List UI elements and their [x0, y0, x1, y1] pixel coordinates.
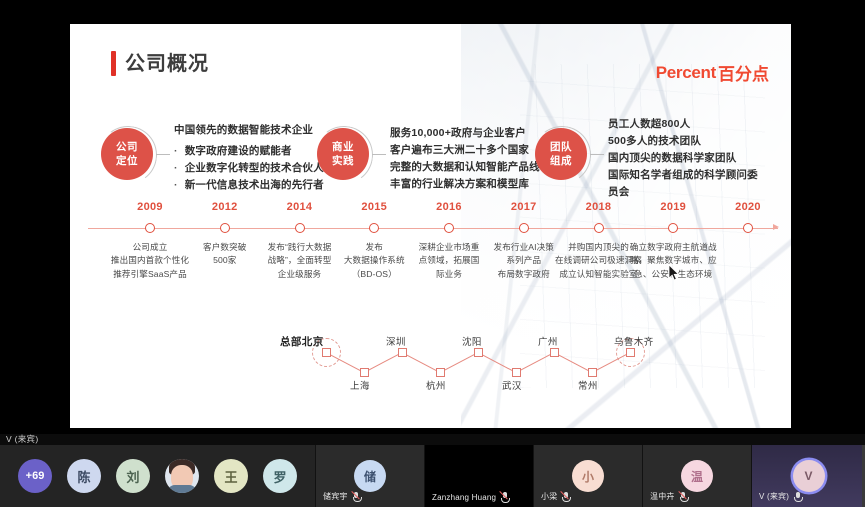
video-tile[interactable]: Zanzhang Huang — [424, 445, 533, 507]
participant-name: Zanzhang Huang — [432, 493, 496, 502]
badge-connector-line — [590, 154, 604, 155]
city-label: 常州 — [578, 378, 598, 392]
city-node-icon — [436, 368, 445, 377]
participant-name: 温中卉 — [650, 491, 675, 502]
city-node-icon — [550, 348, 559, 357]
city-label: 上海 — [350, 378, 370, 392]
block-bullet-text: 数字政府建设的赋能者 — [185, 143, 292, 160]
badge-label-line2: 定位 — [116, 154, 138, 168]
mic-muted-icon[interactable] — [353, 492, 360, 502]
city-label: 深圳 — [386, 334, 406, 348]
city-node-icon — [360, 368, 369, 377]
tile-name-row: 小梁 — [541, 491, 569, 502]
meeting-screen-share-window: 公司概况 Percent 百分点 公司 定位 — [0, 0, 865, 507]
mouse-cursor-icon — [669, 265, 680, 281]
block-body: 员工人数超800人 500多人的技术团队 国内顶尖的数据科学家团队 国际知名学者… — [596, 116, 765, 201]
block-line: 服务10,000+政府与企业客户 — [390, 125, 540, 142]
city-label: 乌鲁木齐 — [614, 334, 654, 348]
timeline-node-icon — [295, 223, 305, 233]
overview-blocks: 公司 定位 中国领先的数据智能技术企业 ·数字政府建设的赋能者 ·企业数字化转型… — [100, 106, 765, 211]
block-line: 500多人的技术团队 — [608, 133, 765, 150]
block-line: 员工人数超800人 — [608, 116, 765, 133]
timeline-year: 2020 — [694, 202, 791, 213]
badge-label-line1: 公司 — [116, 140, 138, 154]
mic-mute-slash-icon — [351, 491, 360, 500]
city-connector-line — [516, 352, 554, 373]
tile-name-row: V (来宾) — [759, 491, 801, 502]
badge-label-line2: 组成 — [550, 154, 572, 168]
timeline-node-icon — [369, 223, 379, 233]
city-connector-line — [440, 352, 478, 373]
participant-avatar[interactable] — [165, 459, 199, 493]
mic-muted-icon[interactable] — [501, 492, 508, 502]
city-label: 广州 — [538, 334, 558, 348]
badge-positioning: 公司 定位 — [100, 106, 162, 211]
avatar-photo-body — [167, 485, 197, 493]
avatar-label: +69 — [26, 470, 45, 482]
office-city-map: 总部北京上海深圳杭州沈阳武汉广州常州乌鲁木齐 — [300, 324, 660, 394]
block-heading: 中国领先的数据智能技术企业 — [174, 123, 324, 139]
city-node-icon — [588, 368, 597, 377]
block-bullet: ·新一代信息技术出海的先行者 — [174, 177, 324, 194]
badge-circle: 团队 组成 — [535, 128, 587, 180]
timeline-node-icon — [668, 223, 678, 233]
block-body: 中国领先的数据智能技术企业 ·数字政府建设的赋能者 ·企业数字化转型的技术合伙人… — [162, 123, 324, 194]
participant-avatar[interactable]: 罗 — [263, 459, 297, 493]
mic-muted-icon[interactable] — [680, 492, 687, 502]
city-node-icon — [512, 368, 521, 377]
block-line: 完整的大数据和认知智能产品线 — [390, 159, 540, 176]
bullet-dot-icon: · — [174, 143, 178, 160]
presentation-slide: 公司概况 Percent 百分点 公司 定位 — [70, 24, 791, 428]
city-node-icon — [474, 348, 483, 357]
tile-name-row: 储宾宇 — [323, 491, 360, 502]
city-label: 沈阳 — [462, 334, 482, 348]
participant-overflow-count[interactable]: +69 — [18, 459, 52, 493]
block-line: 客户遍布三大洲二十多个国家 — [390, 142, 540, 159]
mic-mute-slash-icon — [499, 491, 508, 500]
mic-icon[interactable] — [794, 492, 801, 502]
block-bullet: ·数字政府建设的赋能者 — [174, 143, 324, 160]
self-view-label: V (来宾) — [6, 433, 39, 445]
page-title-text: 公司概况 — [125, 54, 209, 74]
badge-connector-line — [372, 154, 386, 155]
timeline-node-icon — [743, 223, 753, 233]
mic-muted-icon[interactable] — [562, 492, 569, 502]
mic-mute-slash-icon — [678, 491, 687, 500]
badge-label-line1: 团队 — [550, 140, 572, 154]
participant-name: 小梁 — [541, 491, 557, 502]
brand-logo: Percent 百分点 — [656, 60, 769, 85]
avatar-label: 刘 — [126, 467, 139, 486]
timeline-node-icon — [519, 223, 529, 233]
overview-block-team: 团队 组成 员工人数超800人 500多人的技术团队 国内顶尖的数据科学家团队 … — [534, 106, 765, 211]
participant-avatar-group[interactable]: +69陈刘王罗 — [0, 445, 315, 507]
badge-team: 团队 组成 — [534, 106, 596, 211]
bullet-dot-icon: · — [174, 177, 178, 194]
shared-screen-stage: 公司概况 Percent 百分点 公司 定位 — [0, 0, 865, 434]
badge-connector-line — [156, 154, 170, 155]
block-bullet: ·企业数字化转型的技术合伙人 — [174, 160, 324, 177]
brand-logo-cn: 百分点 — [718, 60, 769, 85]
company-timeline: 2009公司成立推出国内首款个性化推荐引擎SaaS产品2012客户数突破500家… — [88, 202, 778, 302]
tile-avatar: V — [793, 460, 825, 492]
timeline-node-icon — [145, 223, 155, 233]
city-node-icon — [322, 348, 331, 357]
city-node-icon — [398, 348, 407, 357]
video-tile-group[interactable]: 储储宾宇Zanzhang Huang小小梁温温中卉VV (来宾) — [315, 445, 865, 507]
block-line: 国际知名学者组成的科学顾问委员会 — [608, 167, 765, 201]
badge-label-line1: 商业 — [332, 140, 354, 154]
tile-name-row: 温中卉 — [650, 491, 687, 502]
overview-block-positioning: 公司 定位 中国领先的数据智能技术企业 ·数字政府建设的赋能者 ·企业数字化转型… — [100, 106, 324, 211]
video-tile[interactable]: 储储宾宇 — [315, 445, 424, 507]
badge-circle: 公司 定位 — [101, 128, 153, 180]
tile-name-row: Zanzhang Huang — [432, 492, 508, 502]
block-line: 国内顶尖的数据科学家团队 — [608, 150, 765, 167]
badge-business: 商业 实践 — [316, 106, 378, 211]
city-label: 总部北京 — [280, 334, 324, 349]
city-label: 武汉 — [502, 378, 522, 392]
video-tile[interactable]: VV (来宾) — [751, 445, 865, 507]
participant-avatar[interactable]: 刘 — [116, 459, 150, 493]
overview-block-business: 商业 实践 服务10,000+政府与企业客户 客户遍布三大洲二十多个国家 完整的… — [316, 106, 540, 211]
participant-avatar[interactable]: 王 — [214, 459, 248, 493]
participant-filmstrip[interactable]: +69陈刘王罗 储储宾宇Zanzhang Huang小小梁温温中卉VV (来宾) — [0, 445, 865, 507]
page-title: 公司概况 — [111, 51, 209, 76]
tile-avatar: 小 — [572, 460, 604, 492]
city-connector-line — [364, 352, 402, 373]
timeline-item: 2020 — [694, 202, 791, 241]
timeline-node-icon — [220, 223, 230, 233]
brand-logo-en: Percent — [656, 63, 716, 83]
block-line: 丰富的行业解决方案和模型库 — [390, 176, 540, 193]
bullet-dot-icon: · — [174, 160, 178, 177]
avatar-label: 王 — [224, 467, 237, 486]
avatar-label: 陈 — [77, 467, 90, 486]
badge-circle: 商业 实践 — [317, 128, 369, 180]
tile-avatar: 储 — [354, 460, 386, 492]
badge-label-line2: 实践 — [332, 154, 354, 168]
timeline-node-icon — [444, 223, 454, 233]
participant-avatar[interactable]: 陈 — [67, 459, 101, 493]
block-body: 服务10,000+政府与企业客户 客户遍布三大洲二十多个国家 完整的大数据和认知… — [378, 125, 540, 193]
city-node-icon — [626, 348, 635, 357]
video-tile[interactable]: 温温中卉 — [642, 445, 751, 507]
city-label: 杭州 — [426, 378, 446, 392]
avatar-label: 罗 — [273, 467, 286, 486]
participant-name: V (来宾) — [759, 491, 789, 502]
title-accent-bar — [111, 51, 116, 76]
block-bullet-text: 企业数字化转型的技术合伙人 — [185, 160, 324, 177]
participant-name: 储宾宇 — [323, 491, 348, 502]
timeline-node-icon — [594, 223, 604, 233]
mic-mute-slash-icon — [560, 491, 569, 500]
tile-avatar: 温 — [681, 460, 713, 492]
video-tile[interactable]: 小小梁 — [533, 445, 642, 507]
block-bullet-text: 新一代信息技术出海的先行者 — [185, 177, 324, 194]
